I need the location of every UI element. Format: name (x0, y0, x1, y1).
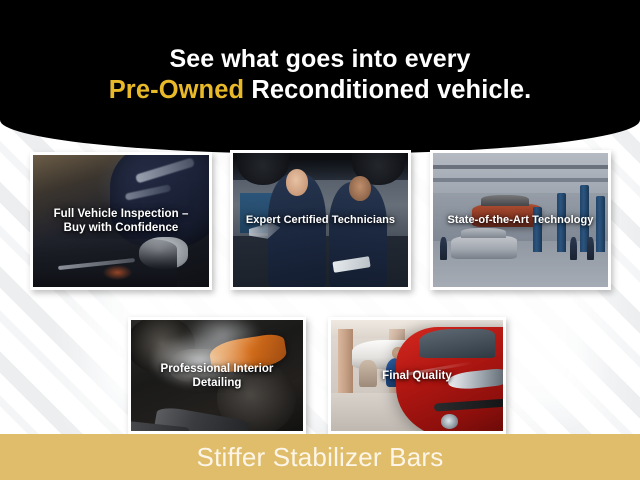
card-state-of-the-art-technology[interactable]: State-of-the-Art Technology (430, 150, 611, 290)
card-caption-line-2: Buy with Confidence (38, 221, 204, 235)
card-caption-line-1: Expert Certified Technicians (238, 213, 403, 227)
card-caption: Professional Interior Detailing (133, 362, 301, 390)
card-caption: Expert Certified Technicians (235, 213, 406, 227)
card-caption-line-2: Detailing (136, 376, 298, 390)
card-professional-interior-detailing[interactable]: Professional Interior Detailing (128, 317, 306, 434)
header-text-block: See what goes into every Pre-Owned Recon… (0, 44, 640, 106)
card-caption: Full Vehicle Inspection – Buy with Confi… (35, 207, 207, 235)
card-photo-service-bay: State-of-the-Art Technology (433, 153, 608, 287)
card-photo-mechanic: Full Vehicle Inspection – Buy with Confi… (33, 155, 209, 287)
card-photo-showroom: Final Quality (331, 320, 503, 431)
header-banner: See what goes into every Pre-Owned Recon… (0, 0, 640, 154)
footer-label: Stiffer Stabilizer Bars (197, 442, 444, 472)
headline-line-2-rest: Reconditioned vehicle. (244, 76, 531, 104)
headline-gold-word: Pre-Owned (109, 76, 245, 104)
card-photo-technicians: Expert Certified Technicians (233, 153, 408, 287)
card-caption-line-1: State-of-the-Art Technology (438, 213, 603, 227)
card-caption-line-1: Final Quality (336, 369, 498, 383)
card-caption: State-of-the-Art Technology (435, 213, 606, 227)
card-final-quality[interactable]: Final Quality (328, 317, 506, 434)
card-caption-line-1: Professional Interior (136, 362, 298, 376)
promo-banner: See what goes into every Pre-Owned Recon… (0, 0, 640, 480)
card-caption-line-1: Full Vehicle Inspection – (38, 207, 204, 221)
card-full-vehicle-inspection[interactable]: Full Vehicle Inspection – Buy with Confi… (30, 152, 212, 290)
footer-bar: Stiffer Stabilizer Bars (0, 434, 640, 480)
card-photo-detailing: Professional Interior Detailing (131, 320, 303, 431)
headline-line-1: See what goes into every (0, 44, 640, 75)
card-caption: Final Quality (333, 369, 501, 383)
headline-line-2: Pre-Owned Reconditioned vehicle. (0, 75, 640, 106)
card-expert-certified-technicians[interactable]: Expert Certified Technicians (230, 150, 411, 290)
